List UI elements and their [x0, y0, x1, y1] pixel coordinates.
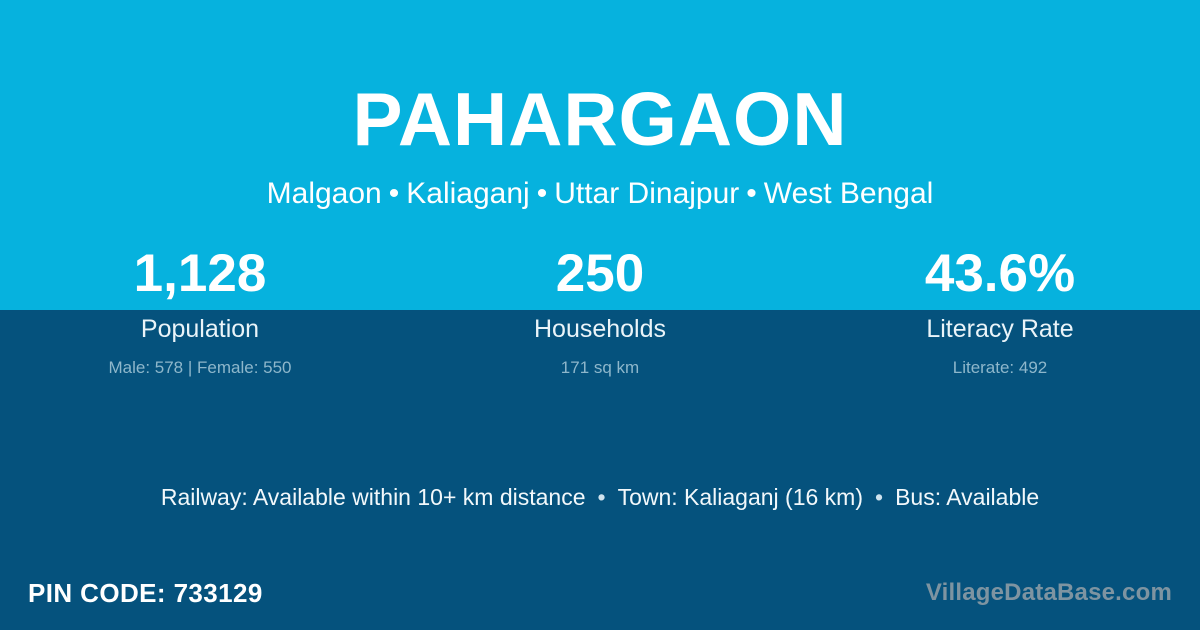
- stat-value: 43.6%: [800, 247, 1200, 310]
- stats-row: 1,128 Population Male: 578 | Female: 550…: [0, 247, 1200, 376]
- transport-separator: •: [586, 484, 618, 510]
- stat-households: 250 Households 171 sq km: [400, 247, 800, 376]
- stat-population: 1,128 Population Male: 578 | Female: 550: [0, 247, 400, 376]
- stat-sublabel: 171 sq km: [400, 359, 800, 376]
- transport-town: Town: Kaliaganj (16 km): [618, 484, 863, 510]
- breadcrumb-item-state: West Bengal: [764, 177, 934, 210]
- stat-value: 250: [400, 247, 800, 310]
- stat-value: 1,128: [0, 247, 400, 310]
- hero-section: PAHARGAON Malgaon•Kaliaganj•Uttar Dinajp…: [0, 0, 1200, 209]
- footer: PIN CODE: 733129 VillageDataBase.com: [0, 556, 1200, 630]
- stat-label: Literacy Rate: [800, 317, 1200, 342]
- breadcrumb-separator: •: [739, 177, 764, 210]
- transport-separator: •: [863, 484, 895, 510]
- page-title: PAHARGAON: [0, 82, 1200, 157]
- breadcrumb-separator: •: [382, 177, 407, 210]
- breadcrumb-item-district: Uttar Dinajpur: [554, 177, 739, 210]
- breadcrumb: Malgaon•Kaliaganj•Uttar Dinajpur•West Be…: [0, 179, 1200, 209]
- breadcrumb-separator: •: [530, 177, 555, 210]
- pin-code: PIN CODE: 733129: [28, 578, 263, 609]
- village-info-card: PAHARGAON Malgaon•Kaliaganj•Uttar Dinajp…: [0, 0, 1200, 630]
- stat-label: Households: [400, 317, 800, 342]
- stat-literacy-rate: 43.6% Literacy Rate Literate: 492: [800, 247, 1200, 376]
- transport-bus: Bus: Available: [895, 484, 1039, 510]
- stat-sublabel: Male: 578 | Female: 550: [0, 359, 400, 376]
- stat-sublabel: Literate: 492: [800, 359, 1200, 376]
- breadcrumb-item-block: Malgaon: [267, 177, 382, 210]
- stat-label: Population: [0, 317, 400, 342]
- site-branding: VillageDataBase.com: [926, 579, 1172, 607]
- breadcrumb-item-subdistrict: Kaliaganj: [406, 177, 529, 210]
- transport-info: Railway: Available within 10+ km distanc…: [0, 486, 1200, 509]
- transport-railway: Railway: Available within 10+ km distanc…: [161, 484, 586, 510]
